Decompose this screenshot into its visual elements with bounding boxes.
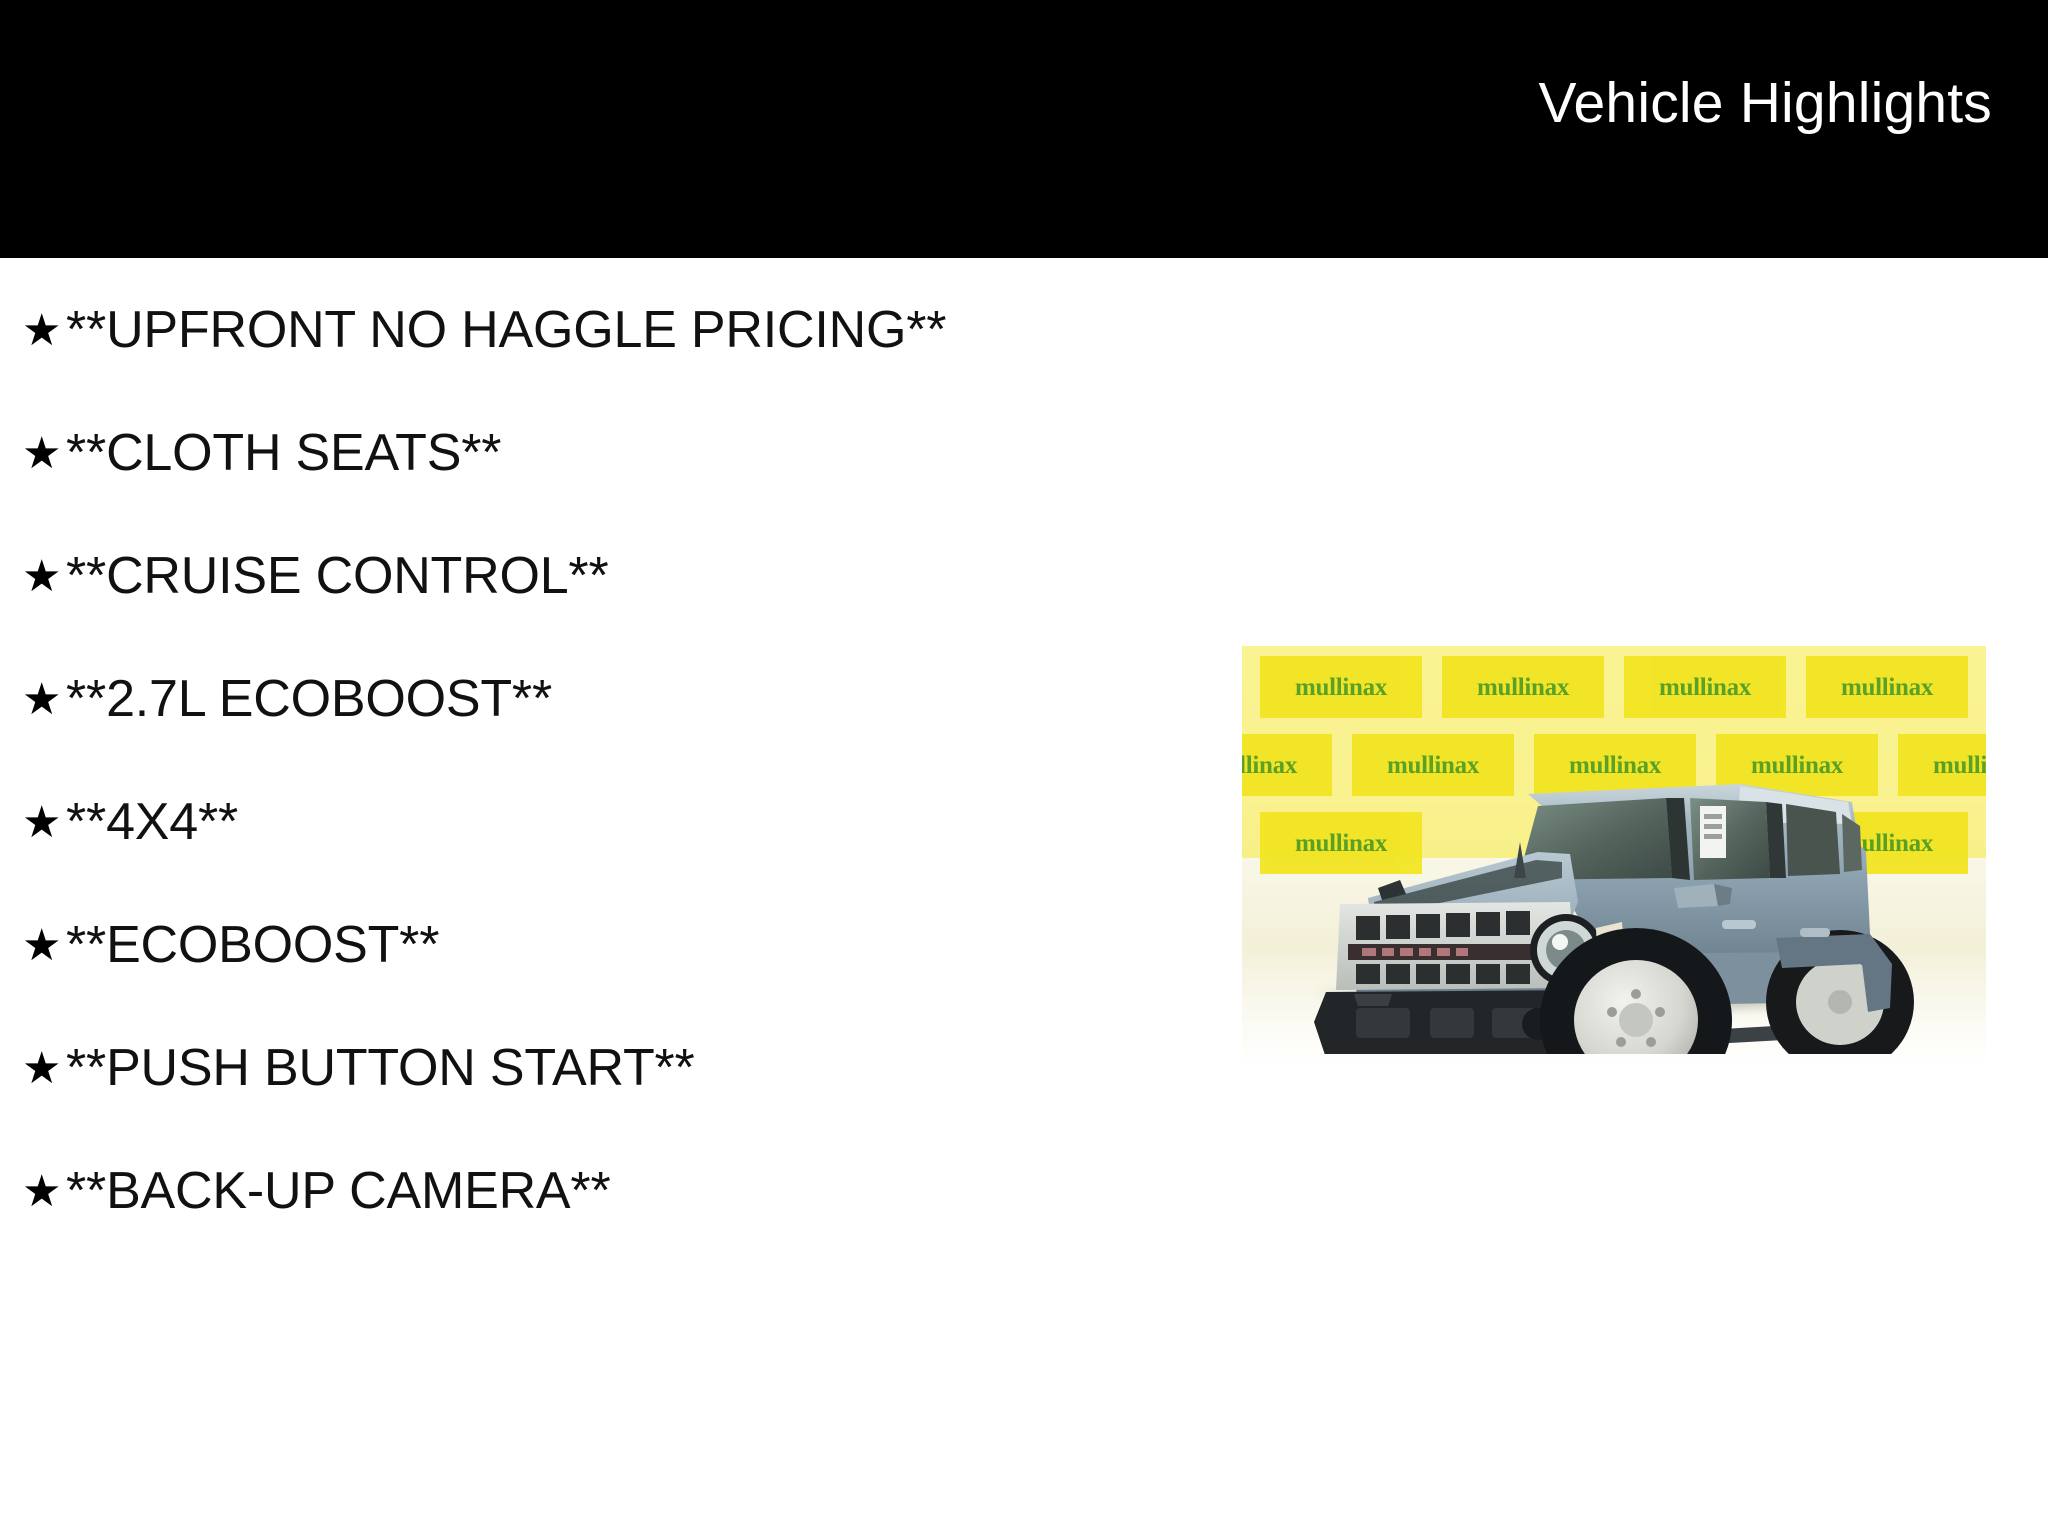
list-item: ★ **ECOBOOST**: [0, 919, 1200, 1042]
list-item: ★ **CLOTH SEATS**: [0, 427, 1200, 550]
vehicle-photo: mullinax mullinax mullinax mullinax mull…: [1242, 638, 1986, 1068]
star-icon: ★: [22, 432, 66, 476]
vehicle-photo-canvas: mullinax mullinax mullinax mullinax mull…: [1242, 638, 1986, 1068]
page-title: Vehicle Highlights: [1538, 72, 1992, 135]
star-icon: ★: [22, 1047, 66, 1091]
list-item: ★ **BACK-UP CAMERA**: [0, 1165, 1200, 1288]
list-item: ★ **4X4**: [0, 796, 1200, 919]
highlight-label: **4X4**: [66, 796, 1200, 848]
highlight-label: **BACK-UP CAMERA**: [66, 1165, 1200, 1217]
list-item: ★ **PUSH BUTTON START**: [0, 1042, 1200, 1165]
star-icon: ★: [22, 924, 66, 968]
list-item: ★ **2.7L ECOBOOST**: [0, 673, 1200, 796]
highlight-label: **CRUISE CONTROL**: [66, 550, 1200, 602]
list-item: ★ **CRUISE CONTROL**: [0, 550, 1200, 673]
highlight-label: **2.7L ECOBOOST**: [66, 673, 1200, 725]
header-bar: Vehicle Highlights: [0, 0, 2048, 258]
star-icon: ★: [22, 801, 66, 845]
highlight-label: **UPFRONT NO HAGGLE PRICING**: [66, 304, 1200, 356]
highlight-label: **CLOTH SEATS**: [66, 427, 1200, 479]
vehicle-highlights-page: Vehicle Highlights ★ **UPFRONT NO HAGGLE…: [0, 0, 2048, 1536]
highlight-label: **ECOBOOST**: [66, 919, 1200, 971]
star-icon: ★: [22, 309, 66, 353]
star-icon: ★: [22, 555, 66, 599]
highlight-label: **PUSH BUTTON START**: [66, 1042, 1200, 1094]
star-icon: ★: [22, 678, 66, 722]
list-item: ★ **UPFRONT NO HAGGLE PRICING**: [0, 304, 1200, 427]
bronco-illustration: [1270, 702, 1960, 1054]
star-icon: ★: [22, 1170, 66, 1214]
vehicle-highlights-list: ★ **UPFRONT NO HAGGLE PRICING** ★ **CLOT…: [0, 258, 1200, 1288]
